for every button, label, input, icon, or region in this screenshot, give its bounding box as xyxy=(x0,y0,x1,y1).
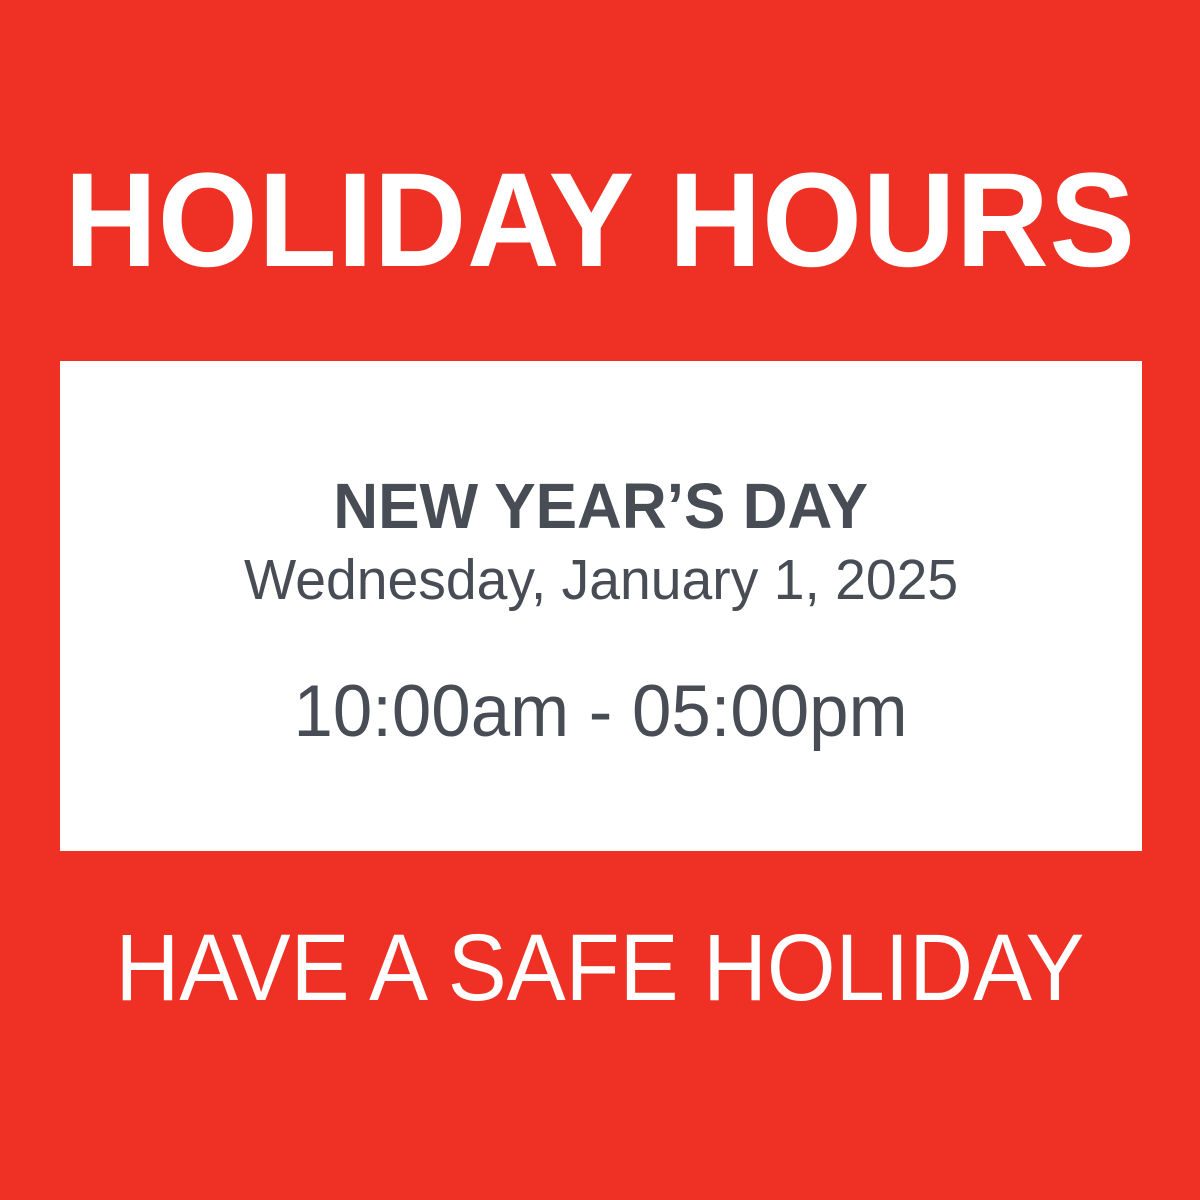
holiday-info-card: NEW YEAR’S DAY Wednesday, January 1, 202… xyxy=(60,361,1142,851)
holiday-name: NEW YEAR’S DAY xyxy=(334,473,869,540)
poster-footer: HAVE A SAFE HOLIDAY xyxy=(0,912,1200,1024)
holiday-date: Wednesday, January 1, 2025 xyxy=(244,550,958,612)
card-content: NEW YEAR’S DAY Wednesday, January 1, 202… xyxy=(60,473,1142,750)
footer-message-text: HAVE A SAFE HOLIDAY xyxy=(116,921,1085,1016)
holiday-hours-range: 10:00am - 05:00pm xyxy=(294,673,908,750)
headline-text: HOLIDAY HOURS xyxy=(64,154,1135,288)
poster-headline: HOLIDAY HOURS xyxy=(0,146,1200,296)
holiday-hours-poster: HOLIDAY HOURS NEW YEAR’S DAY Wednesday, … xyxy=(0,0,1200,1200)
